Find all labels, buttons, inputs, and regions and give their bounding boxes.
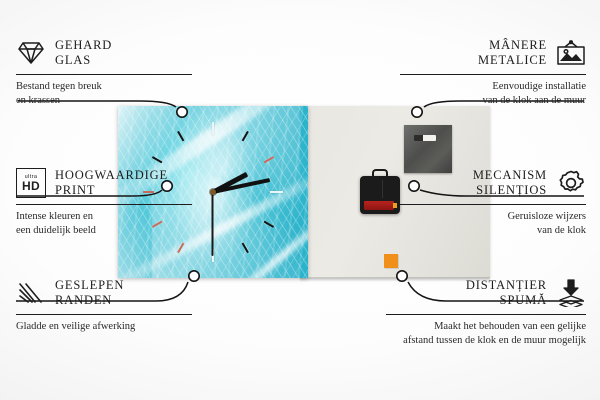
battery [364,201,394,210]
feature-title: DISTANȚIERSPUMĂ [466,278,547,309]
feature-header: GEHARDGLAS [16,38,192,69]
ultra-hd-icon: ultra HD [16,168,46,198]
tick-12 [212,122,214,192]
diagonal-lines-icon [16,278,46,308]
feature-geslepen-randen[interactable]: GESLEPENRANDEN Gladde en veilige afwerki… [16,278,192,334]
feature-header: GESLEPENRANDEN [16,278,192,309]
feature-description: Gladde en veilige afwerking [16,320,192,334]
feature-manere-metalice[interactable]: MÂNEREMETALICE Eenvoudige installatievan… [400,38,586,108]
feature-title: MÂNEREMETALICE [478,38,547,69]
feature-rule [400,74,586,75]
metal-hanger-plate [404,125,452,173]
feature-title: GESLEPENRANDEN [55,278,124,309]
feature-title: HOOGWAARDIGEPRINT [55,168,168,199]
feature-rule [16,314,192,315]
spacer-arrow-icon [556,278,586,308]
feature-title: GEHARDGLAS [55,38,112,69]
feature-rule [16,74,192,75]
feature-header: ultra HD HOOGWAARDIGEPRINT [16,168,192,199]
feature-description: Geruisloze wijzersvan de klok [400,210,586,238]
feature-description: Bestand tegen breuken krassen [16,80,192,108]
feature-mecanism-silentios[interactable]: MECANISMSILENȚIOS Geruisloze wijzersvan … [400,168,586,238]
feature-description: Maakt het behouden van een gelijkeafstan… [386,320,586,348]
feature-rule [400,204,586,205]
feature-header: MECANISMSILENȚIOS [400,168,586,199]
mechanism-loop [372,169,388,178]
feature-hoogwaardige-print[interactable]: ultra HD HOOGWAARDIGEPRINT Intense kleur… [16,168,192,238]
feature-header: DISTANȚIERSPUMĂ [386,278,586,309]
feature-rule [386,314,586,315]
gear-icon [556,168,586,198]
feature-gehard-glas[interactable]: GEHARDGLAS Bestand tegen breuken krassen [16,38,192,108]
feature-distantier-spuma[interactable]: DISTANȚIERSPUMĂ Maakt het behouden van e… [386,278,586,348]
ultra-hd-icon-main: HD [22,180,40,192]
diamond-icon [16,38,46,68]
feature-header: MÂNEREMETALICE [400,38,586,69]
feature-description: Eenvoudige installatievan de klok aan de… [400,80,586,108]
hanger-slot [414,135,436,141]
clock-mechanism [360,176,400,214]
infographic-canvas: GEHARDGLAS Bestand tegen breuken krassen… [0,0,600,400]
feature-title: MECANISMSILENȚIOS [473,168,547,199]
foam-spacer [384,254,398,268]
mechanism-seam [382,180,383,198]
picture-hanger-icon [556,38,586,68]
hands-hub [210,189,216,195]
feature-description: Intense kleuren eneen duidelijk beeld [16,210,192,238]
feature-rule [16,204,192,205]
